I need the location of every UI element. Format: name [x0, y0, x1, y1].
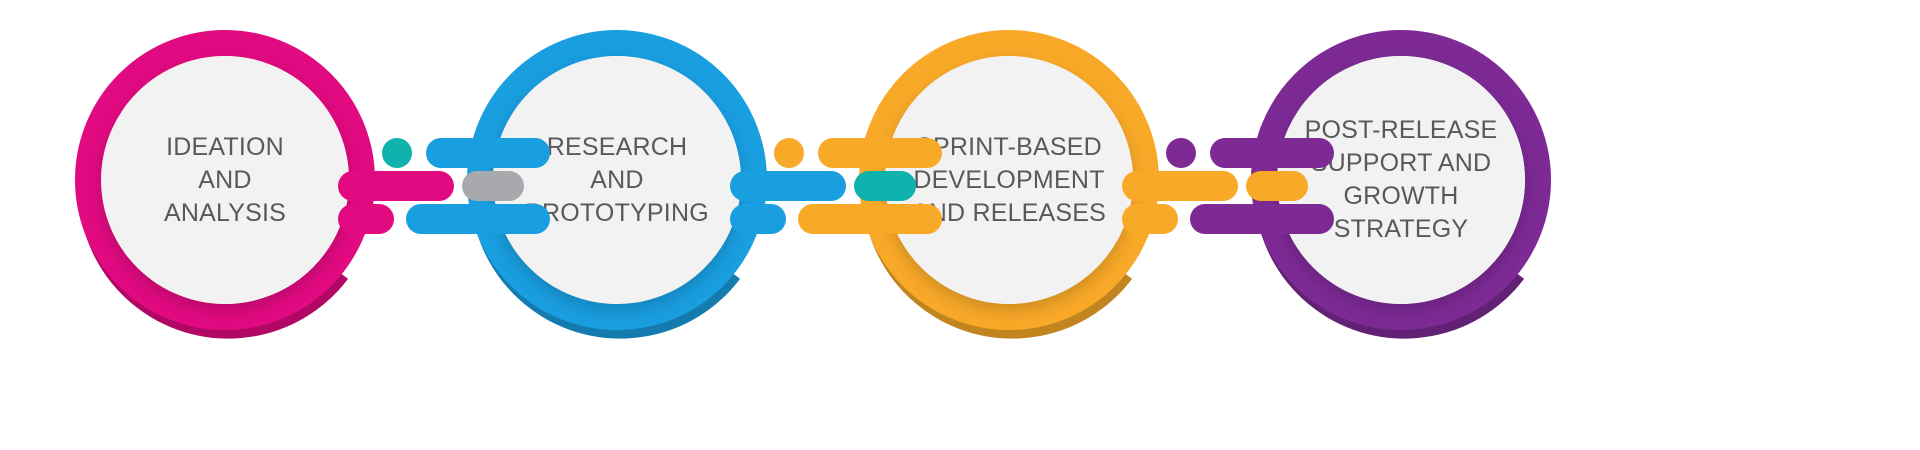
connector-nub-orange-bottom — [1122, 204, 1178, 234]
step-node-ideation-and-analysis[interactable]: IDEATION AND ANALYSIS — [75, 30, 375, 330]
accent-dot-orange — [774, 138, 804, 168]
connector-bar-purple-top — [1210, 138, 1334, 168]
connector-sprint-to-postrelease — [1144, 130, 1334, 240]
connector-bar-magenta-mid — [338, 171, 454, 201]
connector-research-to-sprint — [752, 130, 942, 240]
connector-nub-magenta-bottom — [338, 204, 394, 234]
connector-bar-orange-bottom — [798, 204, 942, 234]
accent-dot-purple — [1166, 138, 1196, 168]
accent-pill-gray — [462, 171, 524, 201]
connector-nub-blue-bottom — [730, 204, 786, 234]
process-flow-diagram: IDEATION AND ANALYSIS RESEARCH AND PROTO… — [0, 0, 1920, 450]
connector-bar-orange-top — [818, 138, 942, 168]
connector-ideation-to-research — [360, 130, 550, 240]
accent-dot-teal — [382, 138, 412, 168]
connector-bar-blue-mid — [730, 171, 846, 201]
disc-step-1: IDEATION AND ANALYSIS — [101, 56, 349, 304]
connector-bar-orange-mid — [1122, 171, 1238, 201]
accent-pill-orange — [1246, 171, 1308, 201]
connector-bar-blue-top — [426, 138, 550, 168]
connector-bar-blue-bottom — [406, 204, 550, 234]
connector-bar-purple-bottom — [1190, 204, 1334, 234]
step-label-1: IDEATION AND ANALYSIS — [158, 131, 292, 230]
accent-pill-teal — [854, 171, 916, 201]
